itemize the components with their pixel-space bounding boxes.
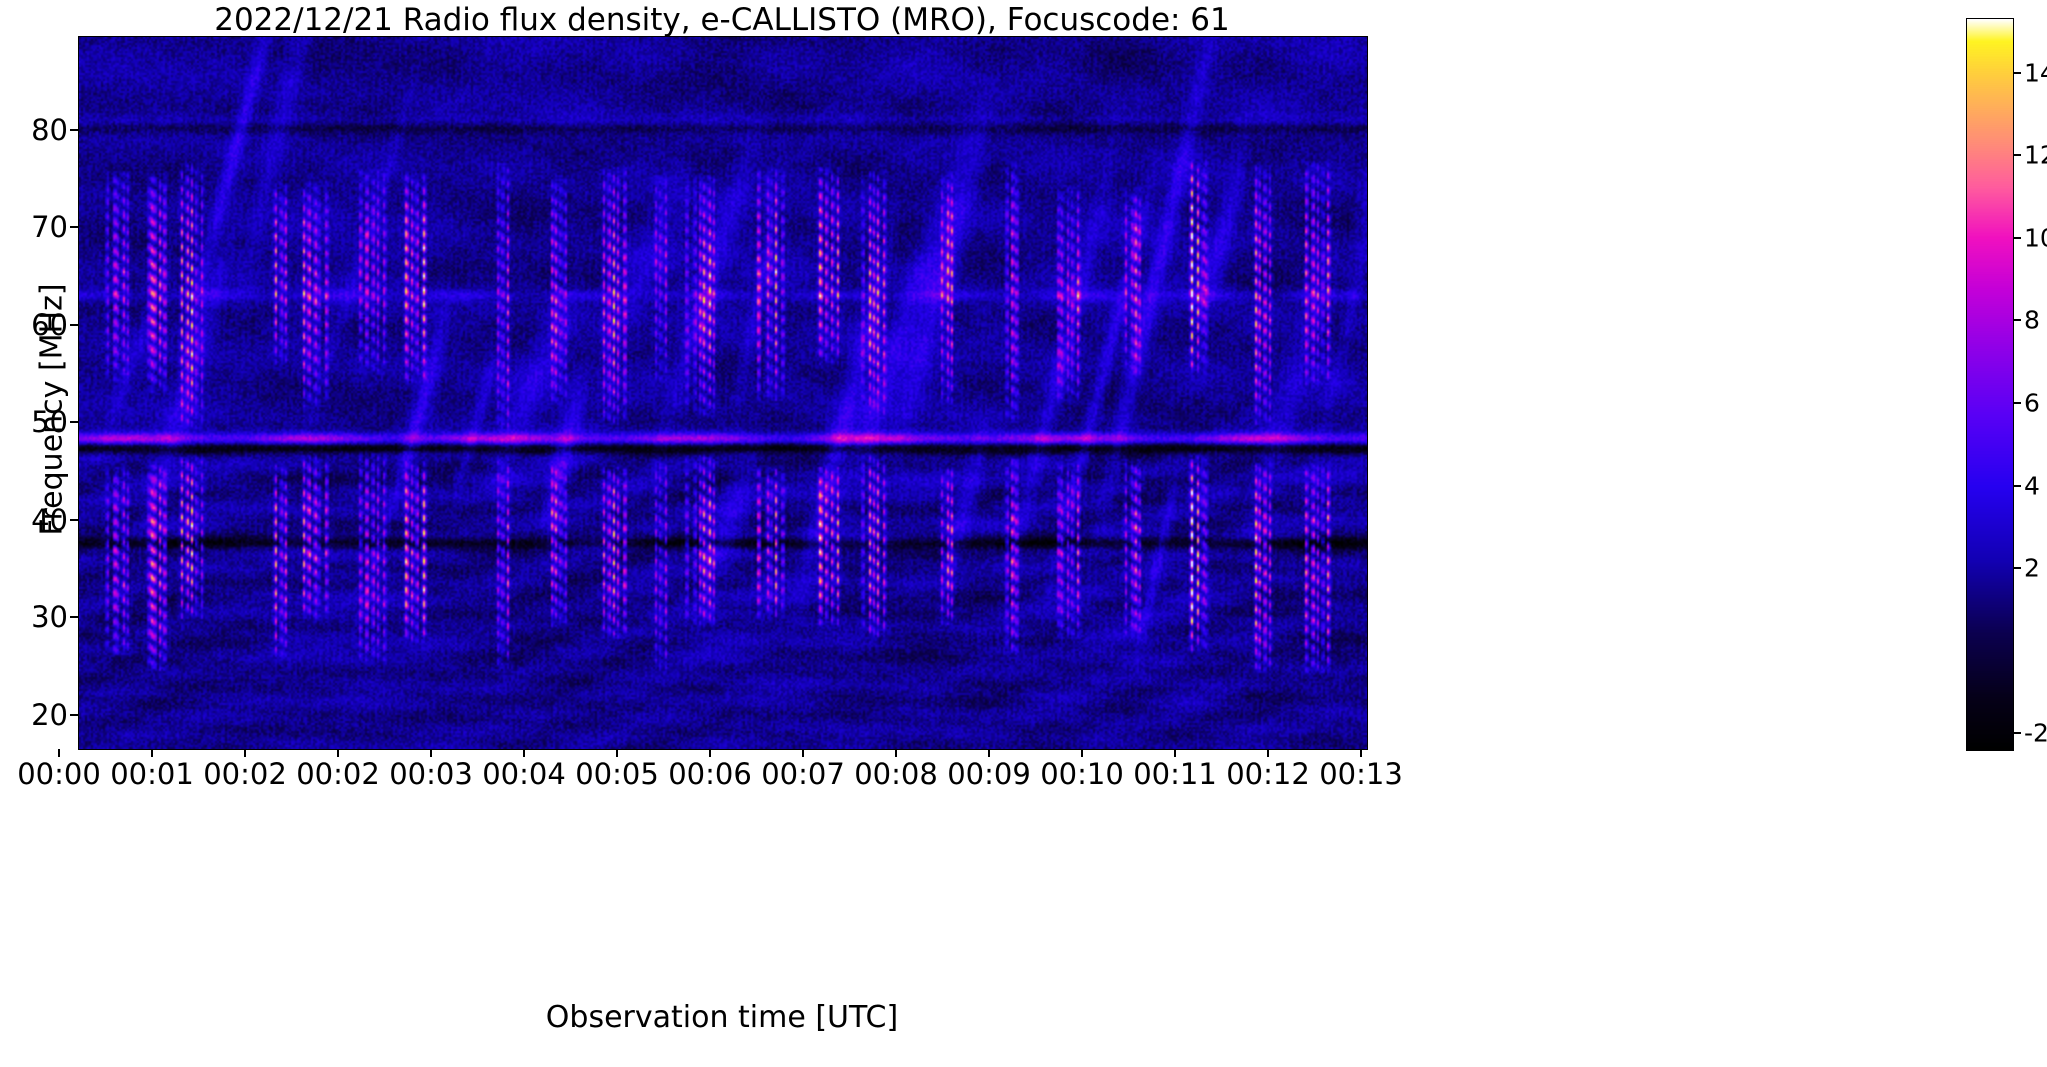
x-tick-mark	[895, 749, 897, 757]
y-tick-mark	[70, 519, 78, 521]
x-tick-label: 00:08	[854, 757, 938, 791]
colorbar-tick-label: 8	[2024, 306, 2040, 335]
spectrogram-image	[79, 37, 1367, 749]
x-tick-mark	[988, 749, 990, 757]
x-tick-mark	[1360, 749, 1362, 757]
x-axis-label: Observation time [UTC]	[78, 1000, 1366, 1035]
x-tick-label: 00:00	[17, 757, 101, 791]
y-tick-mark	[70, 714, 78, 716]
colorbar-tick-mark	[2013, 402, 2021, 404]
x-tick-mark	[523, 749, 525, 757]
y-tick-label: 20	[31, 698, 68, 732]
x-tick-mark	[430, 749, 432, 757]
x-tick-mark	[244, 749, 246, 757]
colorbar-tick-mark	[2013, 237, 2021, 239]
x-tick-label: 00:03	[389, 757, 473, 791]
colorbar-tick-mark	[2013, 732, 2021, 734]
x-tick-label: 00:13	[1319, 757, 1403, 791]
colorbar	[1966, 18, 2014, 751]
x-tick-label: 00:09	[947, 757, 1031, 791]
y-tick-mark	[70, 226, 78, 228]
colorbar-tick-label: 2	[2024, 554, 2040, 583]
y-tick-label: 30	[31, 600, 68, 634]
x-tick-mark	[616, 749, 618, 757]
x-tick-mark	[709, 749, 711, 757]
y-tick-label: 80	[31, 113, 68, 147]
x-tick-mark	[1174, 749, 1176, 757]
x-tick-label: 00:04	[482, 757, 566, 791]
colorbar-tick-mark	[2013, 72, 2021, 74]
x-tick-label: 00:11	[1133, 757, 1217, 791]
colorbar-tick-mark	[2013, 567, 2021, 569]
y-axis-ticks: 80706050403020	[0, 0, 68, 1067]
y-tick-mark	[70, 421, 78, 423]
figure-root: 2022/12/21 Radio flux density, e-CALLIST…	[0, 0, 2047, 1067]
y-tick-label: 50	[31, 405, 68, 439]
x-tick-label: 00:12	[1226, 757, 1310, 791]
colorbar-tick-label: 6	[2024, 389, 2040, 418]
y-tick-label: 70	[31, 210, 68, 244]
x-tick-label: 00:06	[668, 757, 752, 791]
colorbar-tick-mark	[2013, 154, 2021, 156]
x-tick-label: 00:02	[296, 757, 380, 791]
colorbar-tick-mark	[2013, 319, 2021, 321]
x-tick-mark	[337, 749, 339, 757]
y-tick-label: 40	[31, 503, 68, 537]
colorbar-tick-mark	[2013, 485, 2021, 487]
colorbar-tick-label: 4	[2024, 471, 2040, 500]
colorbar-tick-label: 12	[2024, 141, 2047, 170]
y-tick-mark	[70, 616, 78, 618]
colorbar-gradient	[1967, 19, 2013, 750]
x-tick-label: 00:02	[203, 757, 287, 791]
y-tick-label: 60	[31, 308, 68, 342]
x-tick-mark	[802, 749, 804, 757]
x-tick-label: 00:01	[110, 757, 194, 791]
x-tick-mark	[1267, 749, 1269, 757]
x-tick-label: 00:10	[1040, 757, 1124, 791]
y-tick-mark	[70, 324, 78, 326]
x-tick-mark	[151, 749, 153, 757]
x-tick-label: 00:07	[761, 757, 845, 791]
page-title: 2022/12/21 Radio flux density, e-CALLIST…	[78, 2, 1366, 38]
colorbar-tick-label: 14	[2024, 58, 2047, 87]
colorbar-tick-label: -2	[2024, 719, 2047, 748]
x-tick-mark	[58, 749, 60, 757]
colorbar-tick-label: 10	[2024, 223, 2047, 252]
x-tick-label: 00:05	[575, 757, 659, 791]
x-tick-mark	[1081, 749, 1083, 757]
spectrogram-axes	[78, 36, 1368, 750]
y-tick-mark	[70, 129, 78, 131]
